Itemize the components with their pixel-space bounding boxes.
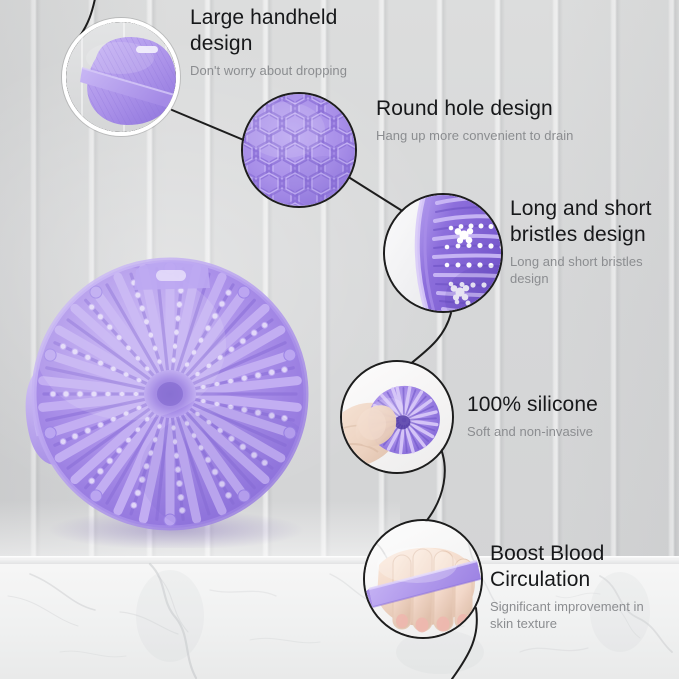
feature-title-long-short-bristles: Long and short bristles design <box>510 196 675 248</box>
feature-subtitle-round-hole: Hang up more convenient to drain <box>376 127 666 144</box>
feature-long-short-bristles: Long and short bristles design Long and … <box>510 196 675 287</box>
main-product-image <box>18 248 338 548</box>
feature-title-round-hole: Round hole design <box>376 96 666 122</box>
feature-boost-blood-circulation: Boost Blood Circulation Significant impr… <box>490 541 675 632</box>
feature-subtitle-long-short-bristles: Long and short bristles design <box>510 253 675 287</box>
callout-bubble-long-short-bristles[interactable] <box>383 193 503 313</box>
bubble-image-hand-squeezing-brush <box>342 362 452 472</box>
feature-subtitle-silicone: Soft and non-invasive <box>467 423 667 440</box>
feature-title-large-handheld: Large handheld design <box>190 5 400 57</box>
callout-bubble-silicone[interactable] <box>340 360 454 474</box>
feature-round-hole-design: Round hole design Hang up more convenien… <box>376 96 666 144</box>
feature-large-handheld-design: Large handheld design Don't worry about … <box>190 5 400 79</box>
feature-subtitle-large-handheld: Don't worry about dropping <box>190 62 400 79</box>
callout-bubble-round-hole[interactable] <box>241 92 357 208</box>
bubble-image-honeycomb-texture <box>243 94 355 206</box>
feature-subtitle-boost-blood-circulation: Significant improvement in skin texture <box>490 598 675 632</box>
callout-bubble-blood-circulation[interactable] <box>363 519 483 639</box>
callout-bubble-large-handheld[interactable] <box>62 18 180 136</box>
feature-title-boost-blood-circulation: Boost Blood Circulation <box>490 541 675 593</box>
bubble-image-brush-back <box>66 22 176 132</box>
silicone-scrubber-illustration <box>18 248 338 548</box>
bubble-image-hand-through-strap <box>365 521 481 637</box>
feature-100-percent-silicone: 100% silicone Soft and non-invasive <box>467 392 667 440</box>
product-infographic: Large handheld design Don't worry about … <box>0 0 679 679</box>
feature-title-silicone: 100% silicone <box>467 392 667 418</box>
bubble-image-bristle-closeup <box>385 195 501 311</box>
